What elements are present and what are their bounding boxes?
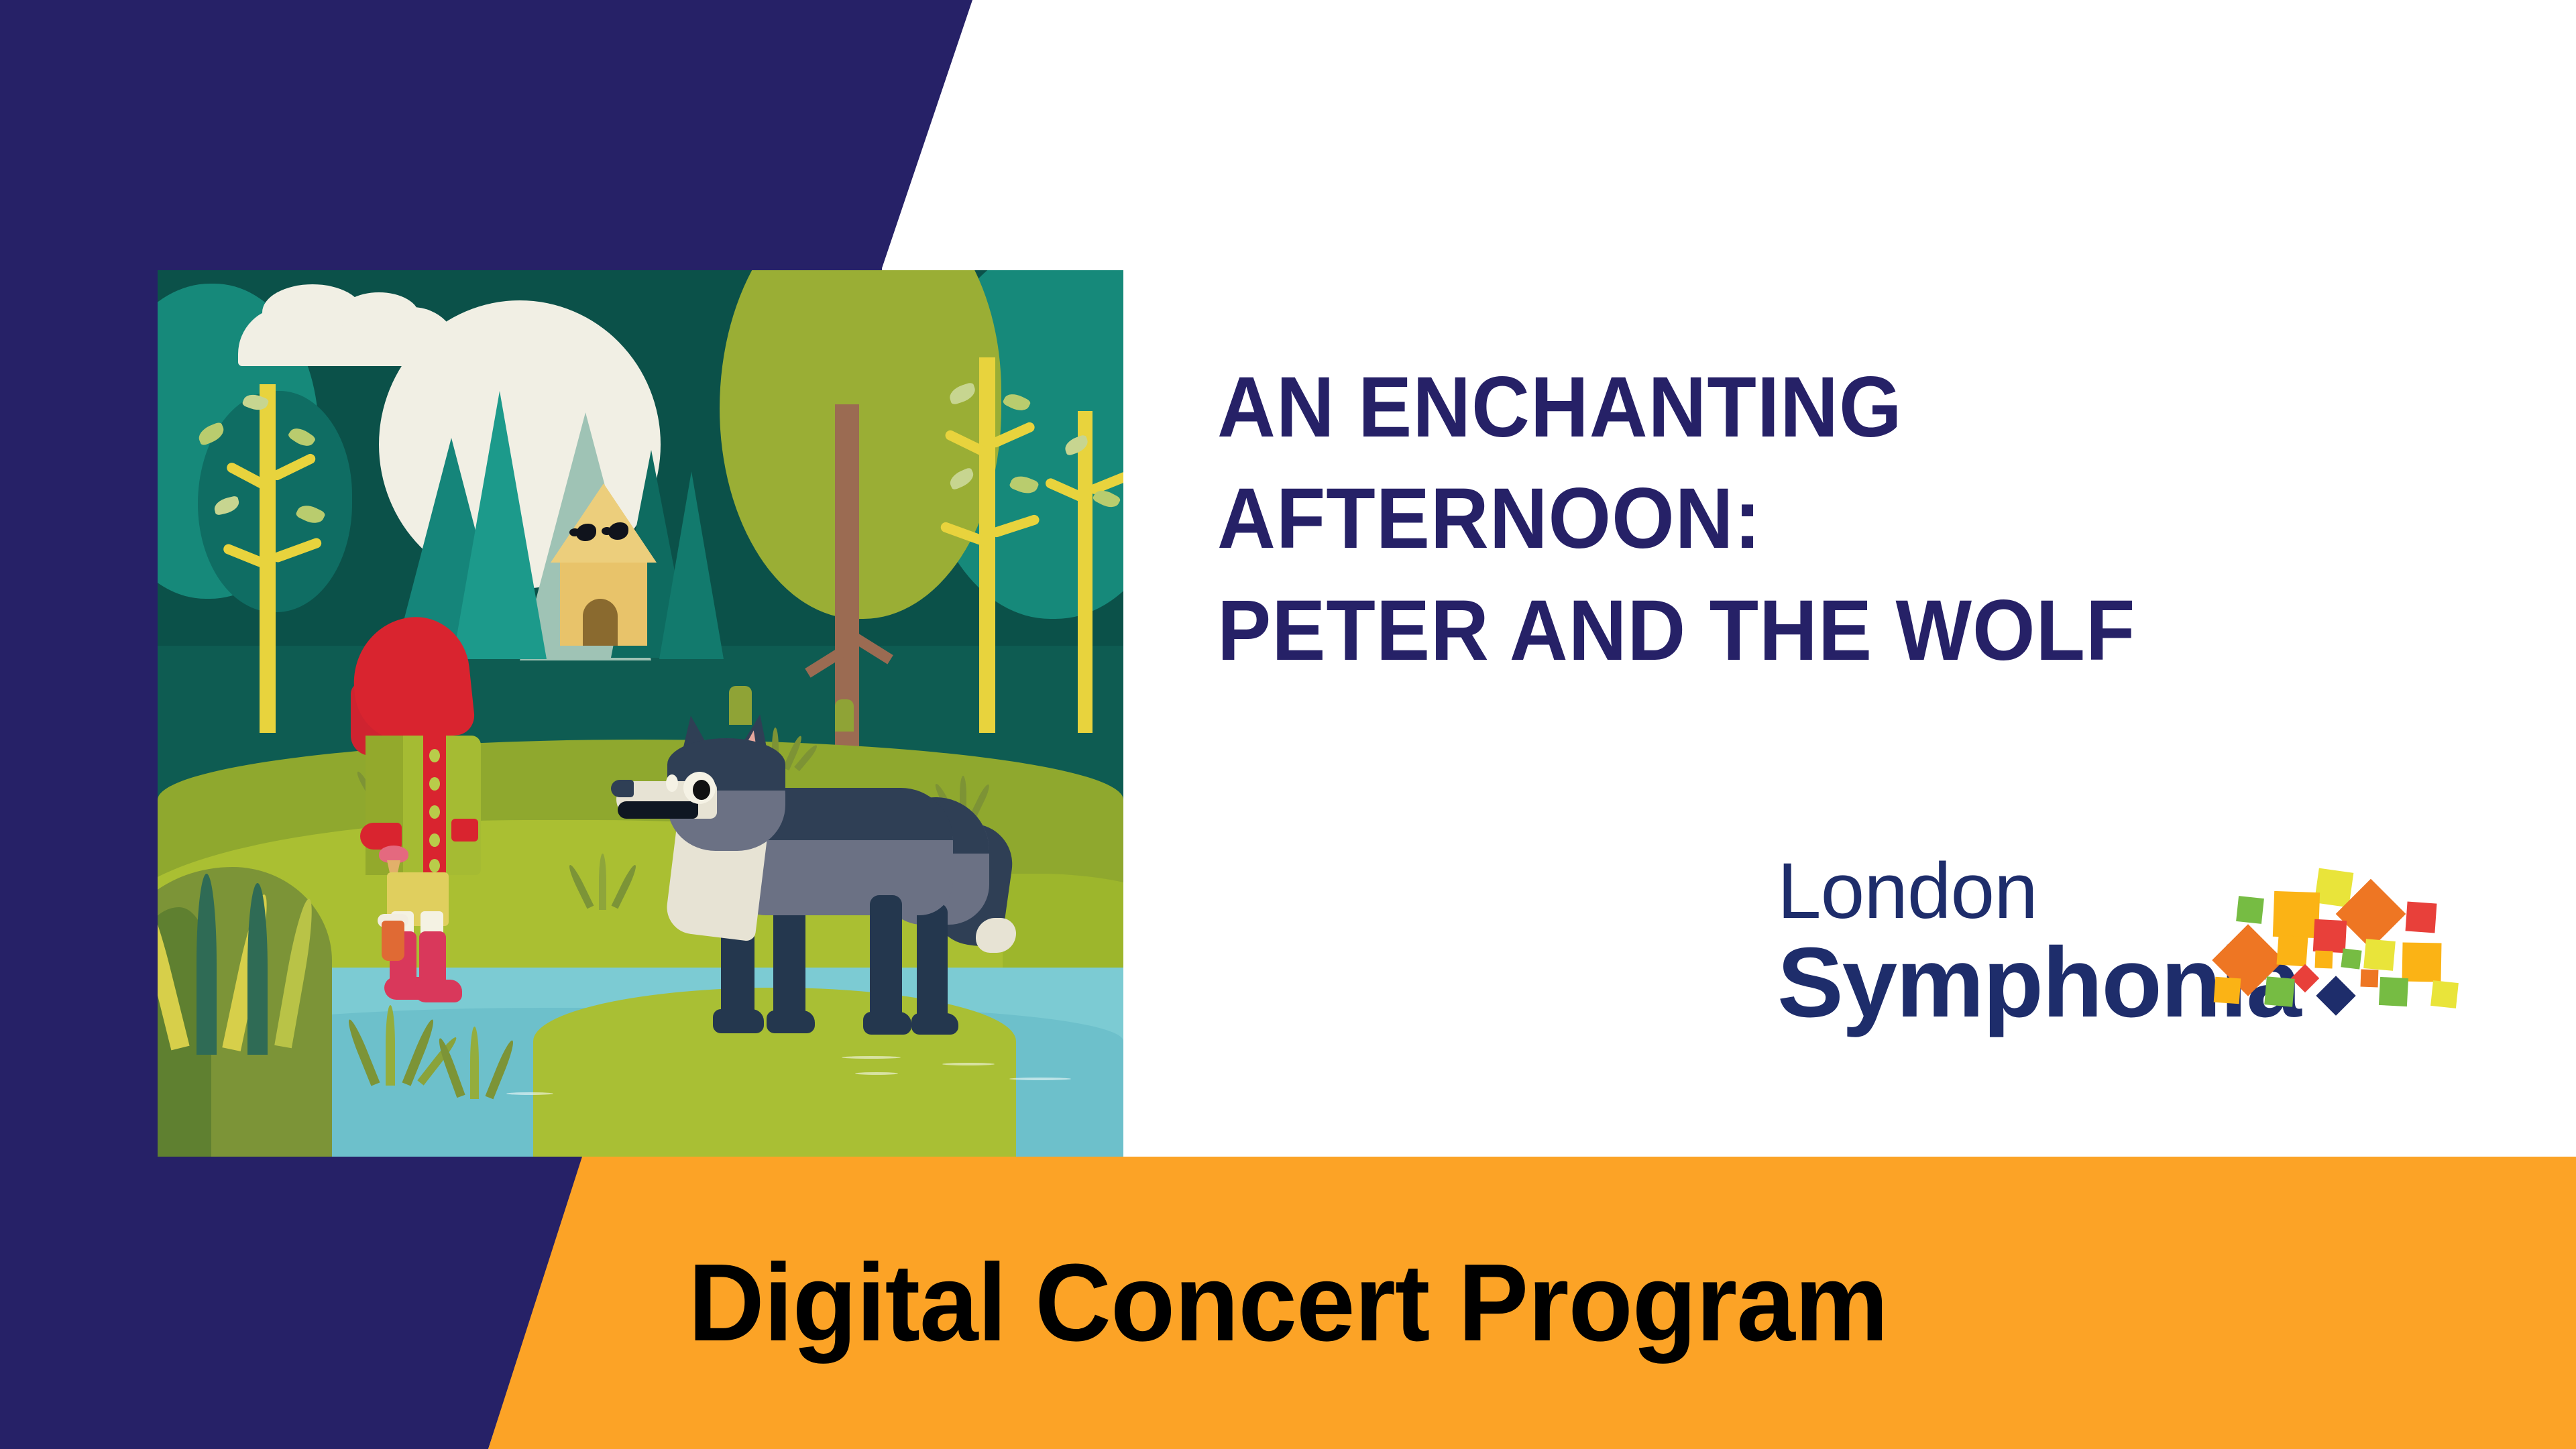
confetti-square: [2402, 942, 2441, 982]
confetti-square: [2277, 935, 2308, 967]
confetti-square: [2379, 977, 2408, 1006]
confetti-squares-mark: [2204, 850, 2506, 1105]
confetti-square: [2264, 976, 2295, 1007]
confetti-square: [2316, 976, 2355, 1015]
confetti-square: [2315, 951, 2333, 969]
peter-and-the-wolf-illustration: [158, 270, 1123, 1157]
confetti-square: [2406, 902, 2437, 933]
confetti-square: [2273, 891, 2320, 938]
title-line-3: PETER AND THE WOLF: [1217, 575, 2441, 687]
confetti-square: [2313, 919, 2347, 953]
confetti-square: [2363, 939, 2396, 971]
confetti-square: [2214, 977, 2241, 1004]
red-hooded-girl-character: [349, 618, 517, 1027]
london-symphonia-logo: London Symphonia: [1777, 852, 2502, 1120]
grey-wolf-character: [614, 723, 1016, 1039]
confetti-square: [2341, 948, 2361, 969]
title-line-2: AFTERNOON:: [1217, 463, 2441, 575]
page-title: AN ENCHANTING AFTERNOON: PETER AND THE W…: [1217, 352, 2441, 687]
confetti-square: [2236, 896, 2264, 924]
confetti-square: [2361, 970, 2379, 988]
confetti-square: [2430, 980, 2459, 1008]
confetti-square: [2291, 964, 2319, 992]
logo-word-london: London: [1777, 852, 2037, 931]
concert-program-poster: AN ENCHANTING AFTERNOON: PETER AND THE W…: [0, 0, 2576, 1449]
title-line-1: AN ENCHANTING: [1217, 352, 2441, 463]
